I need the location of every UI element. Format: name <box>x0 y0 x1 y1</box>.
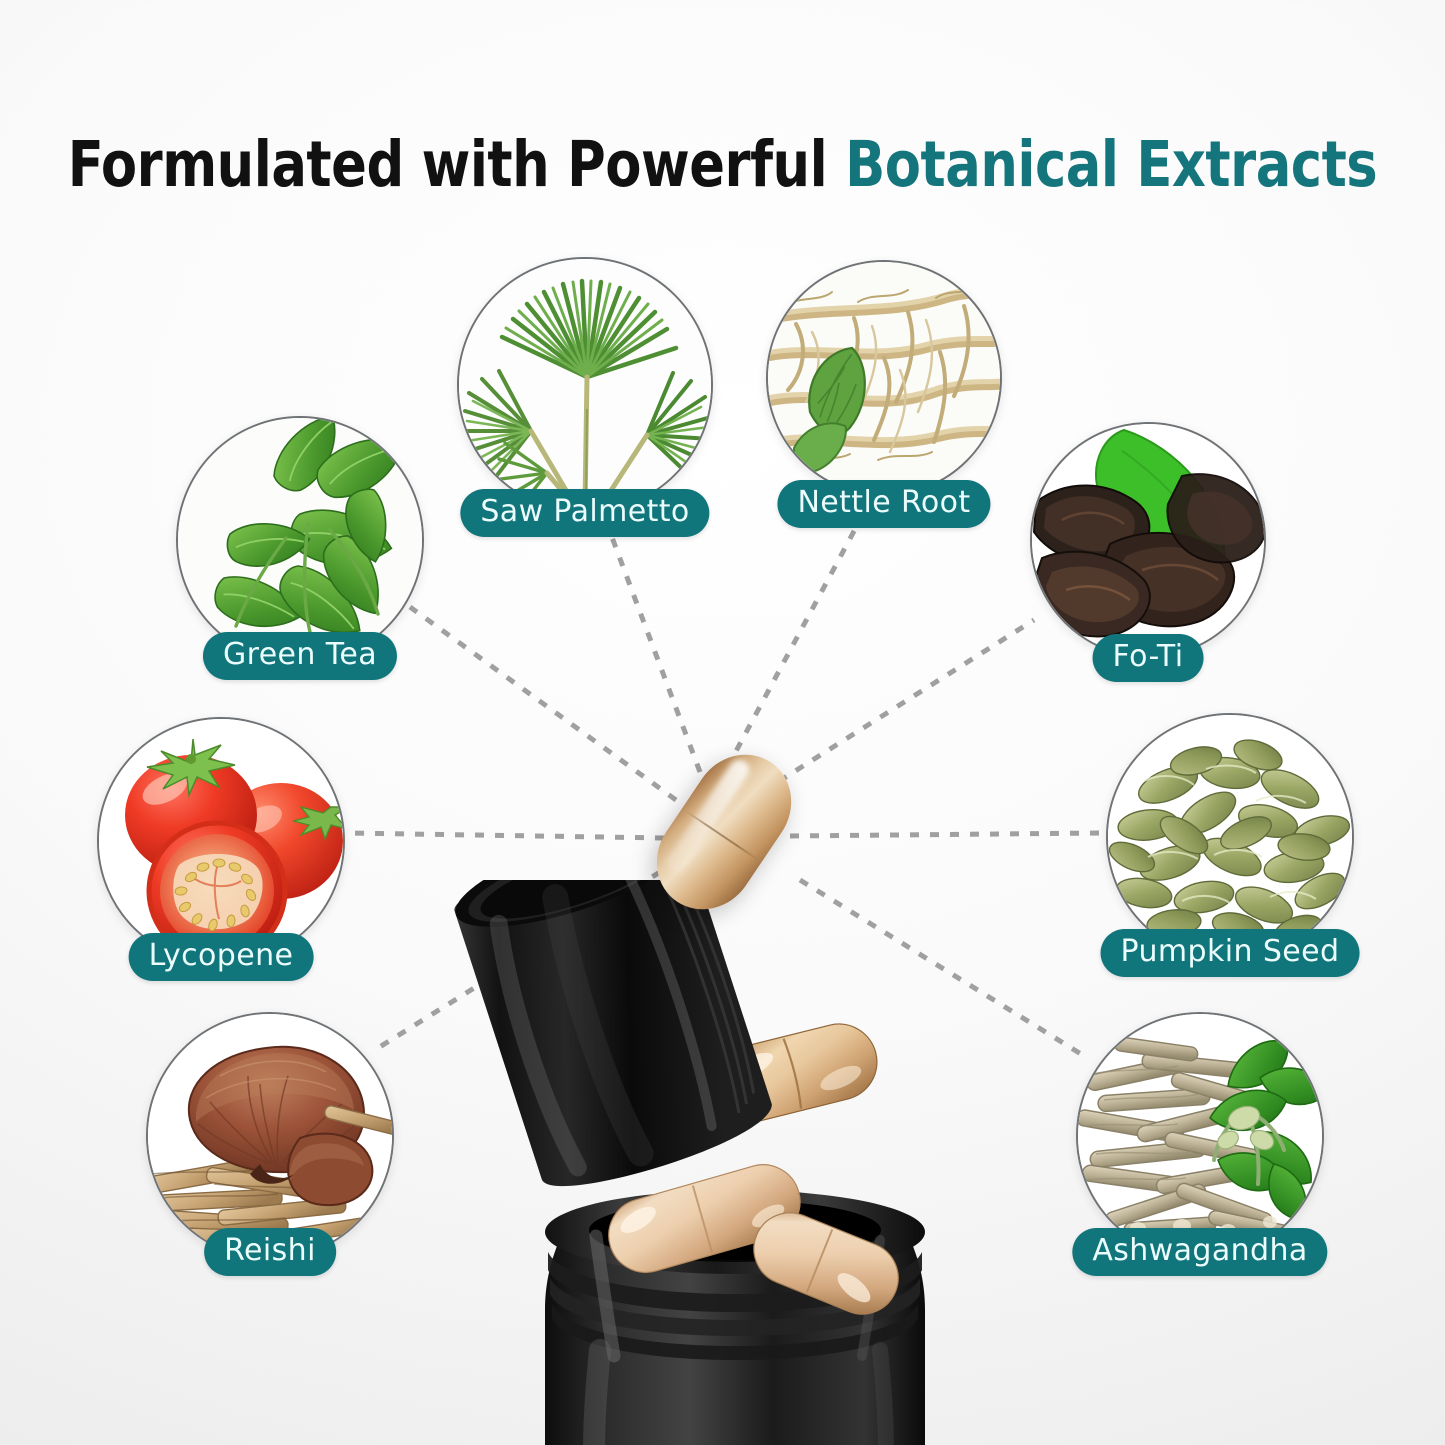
bottle-cap <box>445 880 779 1203</box>
badge-nettle-root: Nettle Root <box>777 480 990 528</box>
line-to-nettle-root <box>727 520 860 768</box>
ingredient-green-tea[interactable]: Green Tea <box>176 416 424 716</box>
badge-saw-palmetto: Saw Palmetto <box>460 489 709 537</box>
supplement-bottle <box>0 880 1445 1445</box>
badge-green-tea: Green Tea <box>203 632 397 680</box>
nettle-root-image <box>766 260 1002 496</box>
ingredient-nettle-root[interactable]: Nettle Root <box>766 260 1002 550</box>
line-to-lycopene <box>347 833 664 838</box>
fo-ti-root-icon <box>1032 424 1264 656</box>
ingredient-fo-ti[interactable]: Fo-Ti <box>1030 422 1266 712</box>
palm-fronds-icon <box>459 259 711 511</box>
green-tea-image <box>176 416 424 664</box>
nettle-roots-icon <box>768 262 1000 494</box>
line-to-saw-palmetto <box>607 524 700 772</box>
tea-leaves-icon <box>178 418 422 662</box>
line-to-green-tea <box>410 607 676 800</box>
ingredient-saw-palmetto[interactable]: Saw Palmetto <box>457 257 713 557</box>
line-to-pumpkin-seed <box>790 833 1101 836</box>
saw-palmetto-image <box>457 257 713 513</box>
fo-ti-image <box>1030 422 1266 658</box>
line-to-fo-ti <box>762 620 1034 792</box>
badge-fo-ti: Fo-Ti <box>1093 634 1204 682</box>
